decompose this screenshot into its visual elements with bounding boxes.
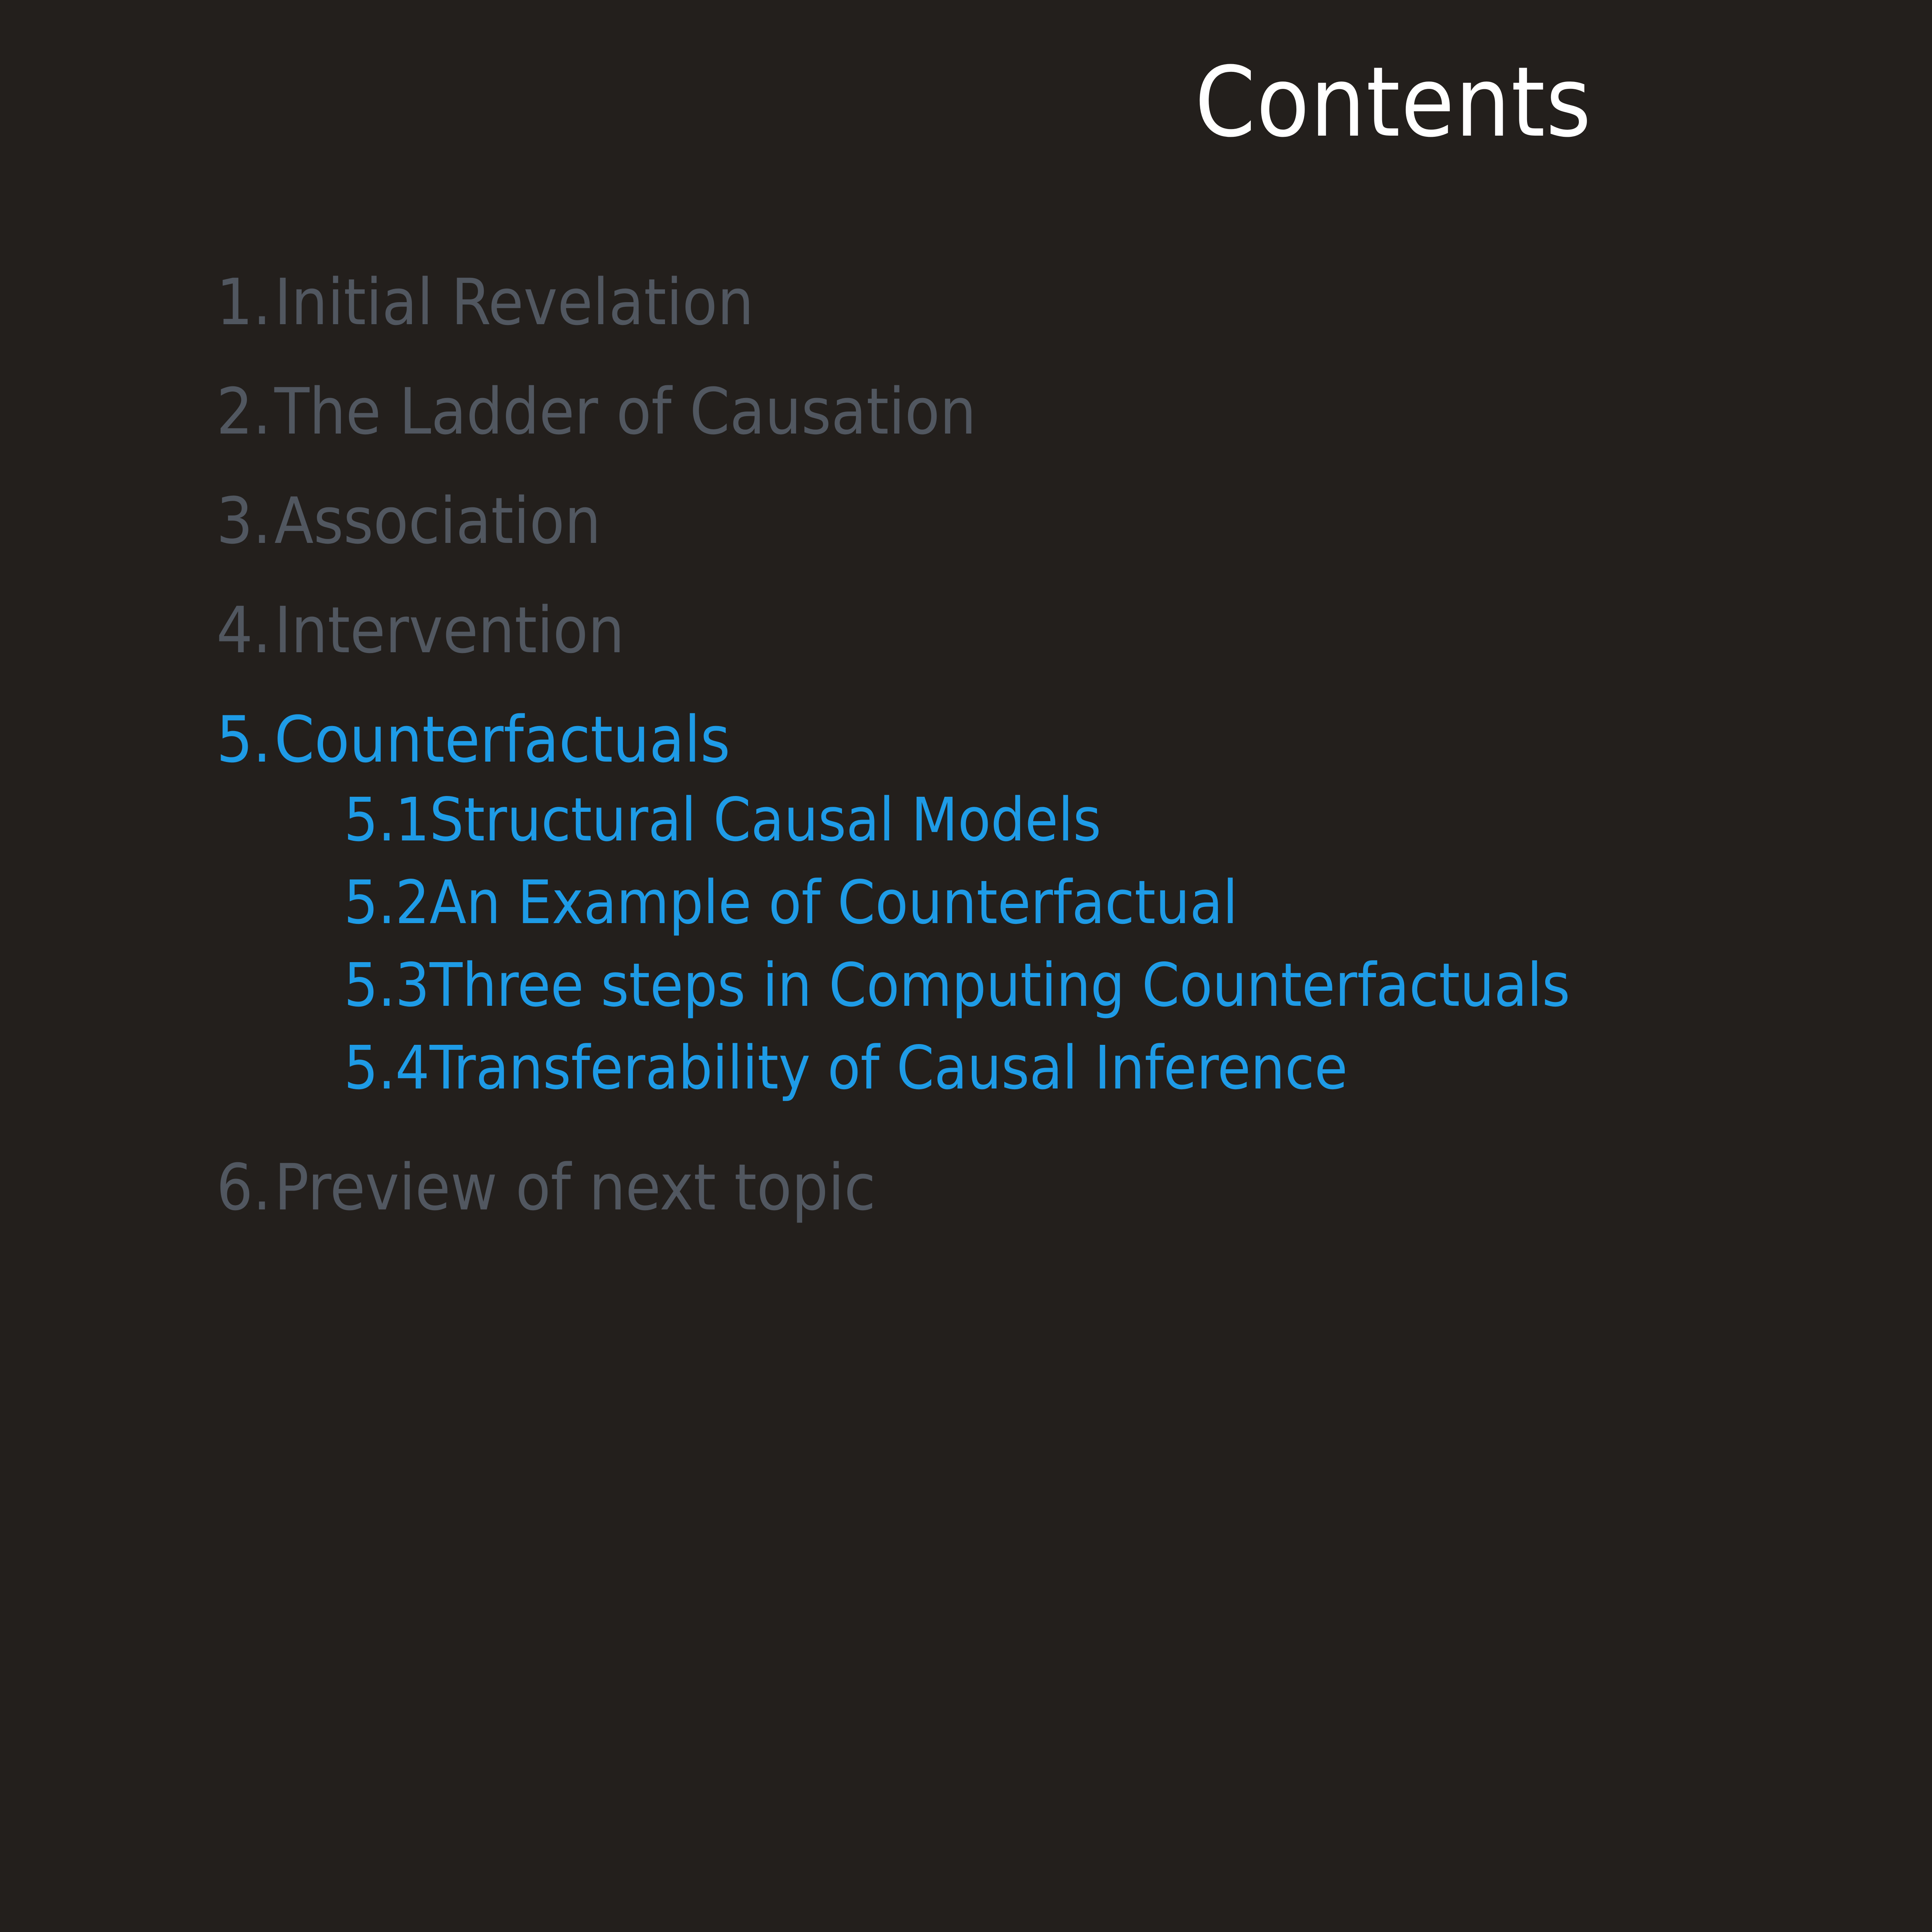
toc-section-5-number: 5. [216, 708, 274, 772]
toc-subsection-5-3[interactable]: 5.3 Three steps in Computing Counterfact… [344, 944, 1932, 1027]
toc-section-6-title: Preview of next topic [274, 1156, 876, 1219]
toc-section-3[interactable]: 3. Association [216, 489, 1932, 553]
toc-section-5[interactable]: 5. Counterfactuals 5.1 Structural Causal… [216, 708, 1932, 1109]
toc-subsection-5-2-title: An Example of Counterfactual [430, 861, 1238, 944]
page-title: Contents [0, 54, 1932, 151]
toc-subsection-5-4-number: 5.4 [344, 1027, 430, 1109]
toc-section-6-number: 6. [216, 1156, 274, 1219]
toc-section-1[interactable]: 1. Initial Revelation [216, 270, 1932, 334]
toc-section-2-title: The Ladder of Causation [274, 380, 976, 444]
toc-section-4-title: Intervention [274, 599, 624, 662]
toc-subsection-5-2[interactable]: 5.2 An Example of Counterfactual [344, 861, 1932, 944]
toc-section-1-title: Initial Revelation [274, 270, 754, 334]
toc-subsection-5-1-number: 5.1 [344, 779, 430, 861]
toc-subsection-5-1-title: Structural Causal Models [430, 779, 1101, 861]
toc-section-3-number: 3. [216, 489, 274, 553]
toc-subsection-5-3-title: Three steps in Computing Counterfactuals [430, 944, 1570, 1027]
toc-subsection-5-1[interactable]: 5.1 Structural Causal Models [344, 779, 1932, 861]
toc-section-3-title: Association [274, 489, 601, 553]
table-of-contents: 1. Initial Revelation 2. The Ladder of C… [216, 270, 1932, 1219]
toc-subsection-5-3-number: 5.3 [344, 944, 430, 1027]
toc-section-4-number: 4. [216, 599, 274, 662]
toc-section-2[interactable]: 2. The Ladder of Causation [216, 380, 1932, 444]
toc-subsection-5-4-title: Transferability of Causal Inference [430, 1027, 1348, 1109]
toc-gap [216, 1109, 1932, 1156]
toc-section-4[interactable]: 4. Intervention [216, 599, 1932, 662]
toc-section-1-number: 1. [216, 270, 274, 334]
toc-subsection-5-2-number: 5.2 [344, 861, 430, 944]
toc-gap [216, 444, 1932, 489]
toc-gap [216, 334, 1932, 380]
toc-section-2-number: 2. [216, 380, 274, 444]
toc-gap [216, 662, 1932, 708]
toc-section-5-title: Counterfactuals [274, 708, 730, 772]
toc-subsection-5-4[interactable]: 5.4 Transferability of Causal Inference [344, 1027, 1932, 1109]
toc-gap [216, 553, 1932, 599]
toc-subsection-list: 5.1 Structural Causal Models 5.2 An Exam… [216, 779, 1932, 1109]
slide-root: Contents 1. Initial Revelation [0, 0, 1932, 1932]
toc-section-6[interactable]: 6. Preview of next topic [216, 1156, 1932, 1219]
